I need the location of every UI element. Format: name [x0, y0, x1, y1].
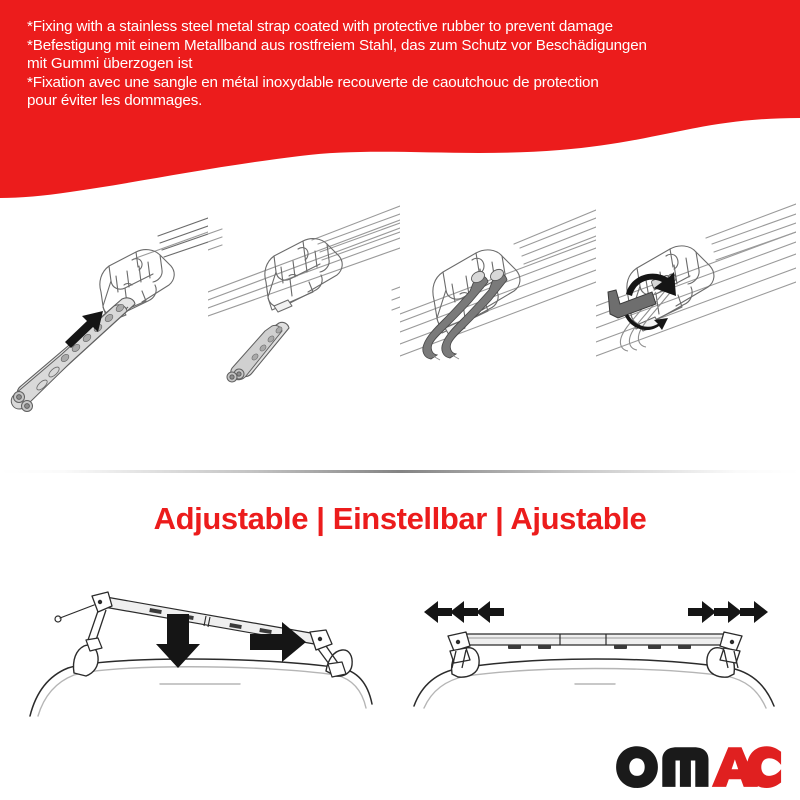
header-banner: *Fixing with a stainless steel metal str… — [0, 0, 800, 200]
step-1-insert-strap — [8, 196, 208, 472]
adjustable-section-title: Adjustable | Einstellbar | Ajustable — [0, 500, 800, 538]
adjustability-strip — [0, 556, 800, 736]
step-2-position-foot — [208, 196, 400, 472]
section-divider — [0, 470, 800, 473]
front-view-illustration — [400, 556, 790, 736]
step-2-illustration — [208, 196, 400, 472]
logo-letter-o — [616, 746, 658, 788]
omac-logo-mark — [615, 744, 782, 788]
installation-steps-strip — [0, 196, 800, 472]
banner-description-text: *Fixing with a stainless steel metal str… — [27, 18, 787, 111]
step-4-tighten-strap — [596, 196, 796, 472]
logo-letter-m — [662, 747, 708, 787]
triple-right-arrow-icon — [688, 601, 768, 623]
product-infographic-page: *Fixing with a stainless steel metal str… — [0, 0, 800, 800]
logo-letter-c — [747, 746, 781, 788]
adjust-view-side — [10, 556, 400, 736]
side-view-illustration — [10, 556, 400, 736]
step-3-illustration — [400, 196, 596, 472]
step-3-wrap-strap — [400, 196, 596, 472]
step-1-illustration — [8, 196, 208, 472]
omac-logo — [615, 744, 782, 788]
triple-left-arrow-icon — [424, 601, 504, 623]
adjust-view-front — [400, 556, 790, 736]
step-4-illustration — [596, 196, 796, 472]
